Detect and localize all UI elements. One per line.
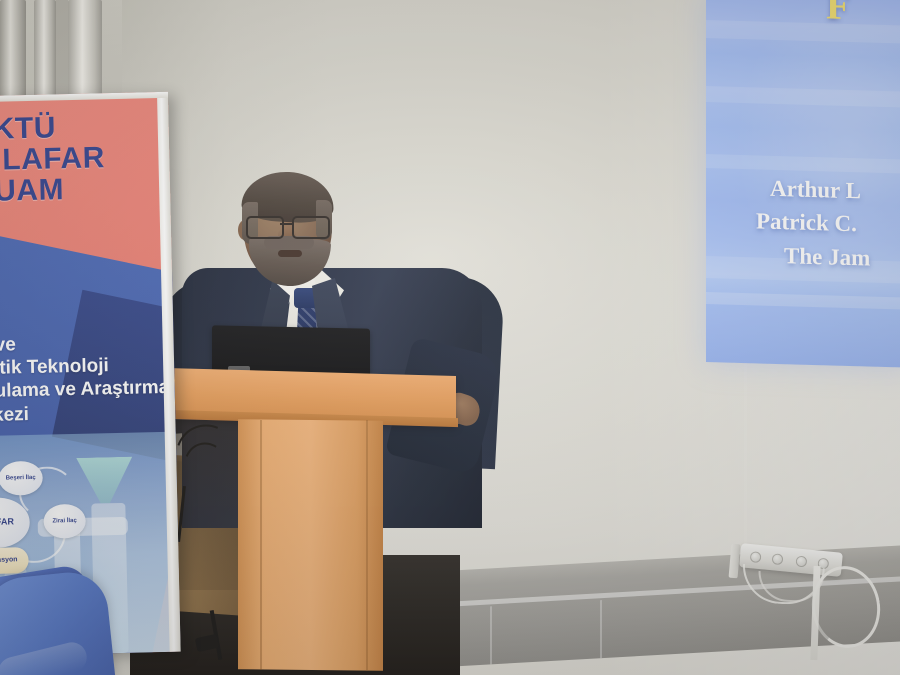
- photo-vignette: [0, 0, 900, 675]
- presentation-photo: F Arthur L Patrick C. The Jam: [0, 0, 900, 675]
